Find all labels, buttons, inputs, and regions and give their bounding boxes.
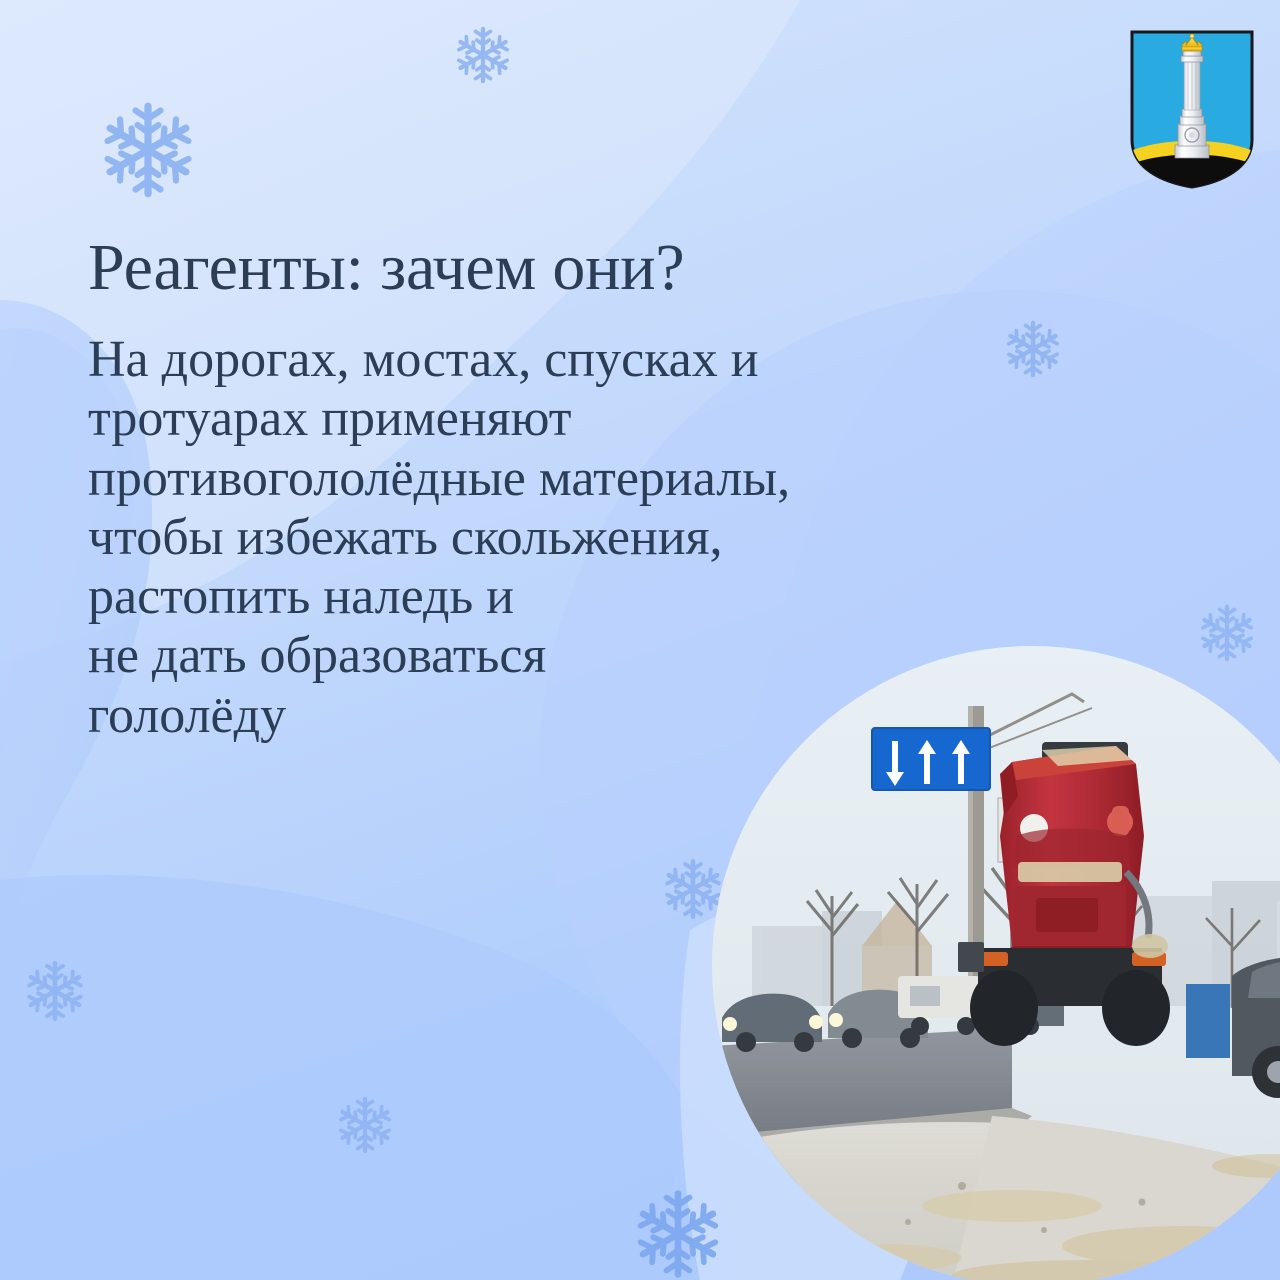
poster-canvas: Реагенты: зачем они? На дорогах, мостах,… <box>0 0 1280 1280</box>
snowflake-bottom-large-icon <box>630 1186 726 1280</box>
snowflake-bottom-center-icon <box>334 1094 396 1156</box>
coat-of-arms-ulyanovsk <box>1127 28 1257 191</box>
snowflake-top-left-icon <box>96 98 200 202</box>
body-line: чтобы избежать скольжения, <box>88 508 1068 567</box>
page-title: Реагенты: зачем они? <box>88 233 1048 302</box>
body-line: противогололёдные материалы, <box>88 449 1068 508</box>
body-line: тротуарах применяют <box>88 389 1068 448</box>
snowflake-right-edge-icon <box>1196 602 1258 664</box>
snowflake-top-center-icon <box>452 24 514 86</box>
snowflake-left-low-icon <box>22 958 88 1024</box>
body-line: растопить наледь и <box>88 567 1068 626</box>
body-line: На дорогах, мостах, спусках и <box>88 330 1068 389</box>
